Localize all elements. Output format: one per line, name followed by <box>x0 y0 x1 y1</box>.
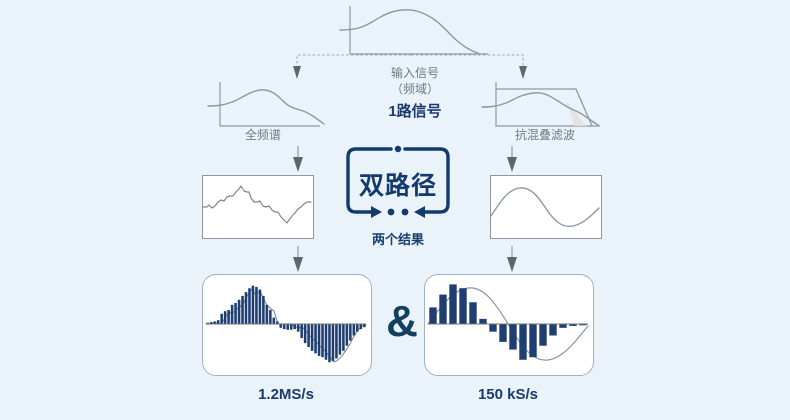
arrow-right-row1-row2 <box>502 146 522 174</box>
sample-bar <box>234 303 237 324</box>
sample-bar <box>227 310 230 324</box>
sample-bar <box>459 288 466 324</box>
sample-bar <box>559 324 566 328</box>
sample-bar <box>259 290 262 325</box>
sample-bar <box>325 324 328 360</box>
sample-bar <box>269 310 272 324</box>
high-rate-sample-bars <box>206 278 366 370</box>
sample-bar <box>469 302 476 324</box>
sample-bar <box>280 324 283 328</box>
sample-bar <box>283 324 286 329</box>
sample-bar <box>300 324 303 338</box>
sample-bar <box>314 324 317 353</box>
sample-bar <box>220 314 223 324</box>
full-spectrum-graph <box>208 80 328 132</box>
sample-bar <box>321 324 324 357</box>
one-channel-headline: 1路信号 <box>330 103 500 121</box>
sample-bar <box>339 324 342 355</box>
anti-alias-filter-label: 抗混叠滤波 <box>475 128 615 143</box>
sample-bar <box>266 305 269 324</box>
sample-bar <box>245 292 248 324</box>
dual-path-title: 双路径 <box>344 166 452 202</box>
sample-bar <box>499 324 506 342</box>
sample-bar <box>519 324 526 360</box>
sample-bar <box>273 318 276 324</box>
sample-bar <box>439 295 446 324</box>
sample-bar <box>489 324 496 332</box>
low-rate-sample-bars <box>428 278 588 370</box>
arrow-left-row2-row3 <box>288 246 308 274</box>
sample-bar <box>349 324 352 341</box>
full-spectrum-label: 全频谱 <box>198 128 328 143</box>
sample-bar <box>479 319 486 324</box>
sample-bar <box>238 300 241 324</box>
sample-bar <box>311 324 314 351</box>
sample-bar <box>304 324 307 343</box>
sample-bar <box>356 324 359 332</box>
sample-bar <box>241 296 244 324</box>
clean-sine-trace <box>491 176 599 236</box>
sample-bar <box>307 324 310 347</box>
sample-bar <box>231 305 234 324</box>
joiner-ampersand: & <box>382 300 422 344</box>
sample-bar <box>318 324 321 356</box>
sample-bar <box>286 324 289 330</box>
sample-bar <box>217 320 220 324</box>
sample-bar <box>342 324 345 351</box>
arrow-right-row2-row3 <box>502 246 522 274</box>
anti-alias-filter-graph <box>482 80 607 132</box>
sample-bar <box>529 324 536 357</box>
sample-bar <box>335 324 338 359</box>
noisy-waveform-trace <box>203 176 311 236</box>
sample-bar <box>262 296 265 324</box>
sample-bar <box>248 288 251 324</box>
sample-bar <box>353 324 356 336</box>
arrow-left-row1-row2 <box>288 146 308 174</box>
sample-bar <box>224 311 227 324</box>
sample-bar <box>332 324 335 361</box>
sample-bar <box>539 324 546 346</box>
sample-bar <box>549 324 556 336</box>
sample-bar <box>255 287 258 324</box>
sample-bar <box>293 324 296 329</box>
sample-bar <box>290 324 293 330</box>
sample-bar <box>346 324 349 346</box>
diagram-canvas: 输入信号 （频域） 1路信号 全频谱 抗混叠滤波 <box>0 0 790 420</box>
dual-path-subtitle: 两个结果 <box>334 232 462 248</box>
low-rate-label: 150 kS/s <box>424 386 592 404</box>
sample-bar <box>360 324 363 329</box>
sample-bar <box>297 324 300 332</box>
high-rate-label: 1.2MS/s <box>202 386 370 404</box>
sample-bar <box>449 284 456 324</box>
sample-bar <box>429 307 436 324</box>
sample-bar <box>252 286 255 324</box>
sample-bar <box>509 324 516 350</box>
sample-bar <box>328 324 331 362</box>
